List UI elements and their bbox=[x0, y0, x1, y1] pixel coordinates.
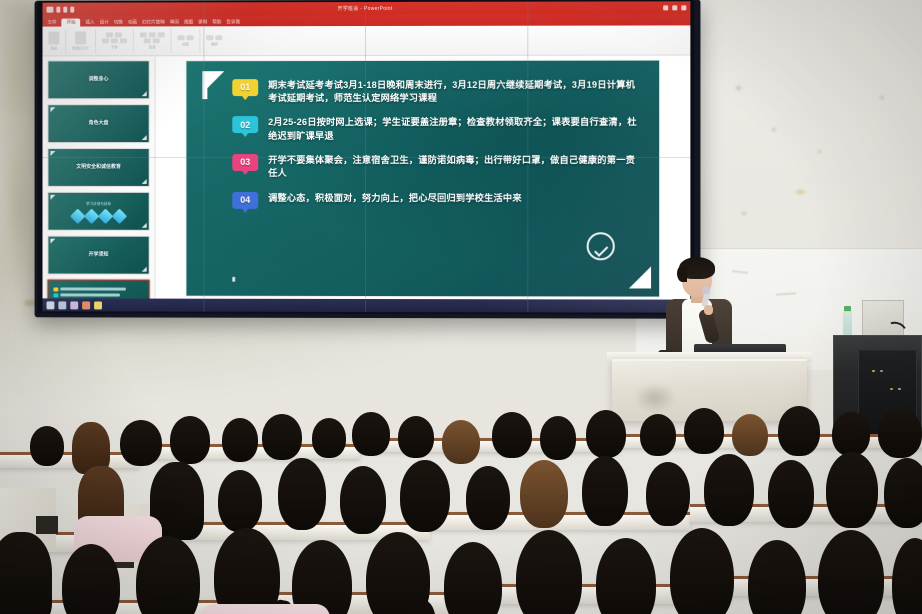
slide-bullet-item: 02 2月25-26日按时网上选课；学生证要盖注册章；检查教材领取齐全；课表要自… bbox=[232, 116, 639, 143]
student-head bbox=[596, 538, 656, 614]
thumbnail-title: 角色大盘 bbox=[85, 120, 113, 127]
ribbon-group-paragraph[interactable]: 段落 bbox=[140, 32, 165, 49]
ribbon-tab-tellme[interactable]: 告诉我 bbox=[226, 19, 240, 27]
slide-thumbnail-3[interactable]: 文明安全和诚信教育 bbox=[47, 148, 149, 187]
slide-marker bbox=[232, 276, 235, 281]
divider bbox=[95, 29, 96, 53]
bold-icon[interactable] bbox=[102, 38, 109, 43]
student-head bbox=[312, 418, 346, 458]
flag-decoration-icon bbox=[202, 85, 207, 99]
thumbnail-title: 文明安全和诚信教育 bbox=[72, 164, 125, 171]
bullet-badge-04: 04 bbox=[232, 192, 258, 209]
divider bbox=[199, 29, 200, 53]
student-head bbox=[442, 420, 480, 464]
corner-decoration-icon bbox=[142, 179, 147, 184]
ribbon-group-label: 编辑 bbox=[211, 41, 218, 46]
photo-scene: 开学班会 - PowerPoint 文件 开始 插入 设计 切换 动画 幻灯片放… bbox=[0, 0, 922, 614]
align-icon[interactable] bbox=[158, 32, 165, 37]
student-head bbox=[136, 536, 200, 614]
student-head bbox=[492, 412, 532, 458]
divider bbox=[133, 29, 134, 53]
student-head bbox=[586, 410, 626, 458]
ribbon-group-label: 段落 bbox=[149, 44, 156, 49]
student-head bbox=[646, 462, 690, 526]
close-button[interactable] bbox=[681, 5, 686, 10]
bullet-badge-01: 01 bbox=[232, 79, 258, 96]
ribbon-group-editing[interactable]: 编辑 bbox=[206, 35, 222, 46]
font-name-box[interactable] bbox=[106, 32, 113, 37]
ribbon-tab-file[interactable]: 文件 bbox=[47, 19, 56, 26]
italic-icon[interactable] bbox=[111, 38, 118, 43]
ribbon-tab-animations[interactable]: 动画 bbox=[128, 19, 137, 26]
student-head bbox=[884, 458, 922, 528]
bullet-text: 2月25-26日按时网上选课；学生证要盖注册章；检查教材领取齐全；课表要自行查清… bbox=[268, 116, 639, 143]
badge-number: 03 bbox=[240, 157, 250, 167]
desk-cutout bbox=[36, 516, 58, 534]
corner-decoration-icon bbox=[629, 266, 651, 288]
thumbnail-title: 调整身心 bbox=[85, 76, 113, 83]
slide-thumbnail-1[interactable]: 调整身心 bbox=[47, 60, 149, 99]
ribbon-group-label: 绘图 bbox=[182, 41, 189, 46]
student-head bbox=[352, 412, 390, 456]
line-spacing-icon[interactable] bbox=[153, 38, 160, 43]
diamond-chart-icon bbox=[72, 210, 125, 221]
student-head bbox=[892, 538, 922, 614]
wall-speck bbox=[880, 96, 884, 99]
student-head bbox=[0, 532, 52, 614]
corner-decoration-icon bbox=[50, 195, 55, 200]
student-head bbox=[466, 466, 510, 530]
student-head bbox=[540, 416, 576, 460]
microphone-head bbox=[702, 286, 710, 294]
student-head bbox=[878, 408, 922, 458]
select-icon[interactable] bbox=[215, 35, 222, 40]
student-head bbox=[444, 542, 502, 614]
water-bottle bbox=[843, 311, 852, 337]
student-head bbox=[832, 412, 870, 456]
divider bbox=[65, 29, 66, 53]
student-head bbox=[262, 414, 302, 460]
student-head bbox=[398, 416, 434, 458]
ribbon-tab-home[interactable]: 开始 bbox=[62, 18, 81, 27]
desk-row bbox=[0, 452, 140, 468]
slide-bullet-list: 01 期末考试延考考试3月1-18日晚和周末进行，3月12日周六继续延期考试，3… bbox=[232, 78, 639, 220]
student-head bbox=[748, 540, 806, 614]
slide-thumbnail-pane[interactable]: 调整身心 角色大盘 文明安全和诚信教育 bbox=[43, 57, 156, 298]
slide-bullet-item: 03 开学不要集体聚会，注意宿舍卫生，谨防诺如病毒；出行带好口罩，做自己健康的第… bbox=[232, 154, 639, 181]
ribbon-tab-transitions[interactable]: 切换 bbox=[114, 19, 123, 26]
divider bbox=[171, 29, 172, 53]
ribbon-group-font[interactable]: 字体 bbox=[102, 32, 127, 49]
new-slide-icon[interactable] bbox=[75, 31, 86, 44]
ribbon-tab-design[interactable]: 设计 bbox=[100, 19, 109, 26]
slide-thumbnail-5[interactable]: 开学须知 bbox=[47, 236, 149, 275]
check-circle-icon bbox=[587, 232, 615, 260]
corner-decoration-icon bbox=[142, 91, 147, 96]
slide-bullet-item: 04 调整心态，积极面对，努力向上，把心尽回归到学校生活中来 bbox=[232, 192, 639, 209]
thumbnail-title: 学习计划与目标 bbox=[86, 201, 111, 206]
font-size-box[interactable] bbox=[115, 32, 122, 37]
thumbnail-title: 开学须知 bbox=[85, 252, 113, 259]
os-taskbar[interactable] bbox=[43, 298, 691, 312]
student-head bbox=[826, 452, 878, 528]
ribbon-group-new-slide[interactable]: 新建幻灯片 bbox=[72, 31, 89, 50]
presenter-hair bbox=[679, 257, 715, 279]
student-head bbox=[30, 426, 64, 466]
badge-number: 01 bbox=[240, 82, 250, 92]
student-head bbox=[768, 460, 814, 528]
slide-thumbnail-2[interactable]: 角色大盘 bbox=[47, 104, 149, 143]
student-head bbox=[516, 530, 582, 614]
bullet-badge-02: 02 bbox=[232, 116, 258, 133]
bullet-text: 期末考试延考考试3月1-18日晚和周末进行，3月12日周六继续延期考试，3月19… bbox=[268, 78, 639, 105]
badge-number: 02 bbox=[240, 120, 250, 130]
student-head bbox=[640, 414, 676, 456]
wall-speck bbox=[736, 86, 741, 90]
wall-speck bbox=[742, 212, 746, 215]
current-slide[interactable]: 01 期末考试延考考试3月1-18日晚和周末进行，3月12日周六继续延期考试，3… bbox=[186, 60, 659, 296]
student-head bbox=[582, 456, 628, 526]
slide-bullet-item: 01 期末考试延考考试3月1-18日晚和周末进行，3月12日周六继续延期考试，3… bbox=[232, 78, 639, 105]
ribbon-tab-view[interactable]: 视图 bbox=[184, 19, 193, 26]
corner-decoration-icon bbox=[142, 135, 147, 140]
restore-button[interactable] bbox=[672, 5, 677, 10]
ribbon-group-label: 粘贴 bbox=[51, 45, 58, 50]
slide-thumbnail-6[interactable] bbox=[47, 279, 149, 298]
numbering-icon[interactable] bbox=[149, 32, 156, 37]
student-head bbox=[214, 528, 280, 614]
minimize-button[interactable] bbox=[663, 5, 668, 10]
student-head bbox=[120, 420, 162, 466]
indent-icon[interactable] bbox=[144, 38, 151, 43]
student-head bbox=[340, 466, 386, 534]
student-head bbox=[684, 408, 724, 454]
ribbon-group-label: 新建幻灯片 bbox=[72, 45, 89, 50]
ribbon-tab-review[interactable]: 审阅 bbox=[170, 19, 179, 26]
browser-icon[interactable] bbox=[82, 301, 90, 309]
audience-seating bbox=[0, 404, 922, 614]
student-head bbox=[704, 454, 754, 526]
underline-icon[interactable] bbox=[120, 38, 127, 43]
corner-decoration-icon bbox=[142, 223, 147, 228]
student-head bbox=[170, 416, 210, 464]
ribbon-group-paste[interactable]: 粘贴 bbox=[48, 32, 59, 51]
corner-decoration-icon bbox=[50, 239, 55, 244]
bullet-text: 开学不要集体聚会，注意宿舍卫生，谨防诺如病毒；出行带好口罩，做自己健康的第一责任… bbox=[268, 154, 639, 181]
student-head bbox=[732, 414, 768, 456]
shapes-icon[interactable] bbox=[177, 35, 184, 40]
wall-speck bbox=[772, 128, 776, 131]
student-head bbox=[222, 418, 258, 462]
corner-decoration-icon bbox=[50, 107, 55, 112]
wall-display: 开学班会 - PowerPoint 文件 开始 插入 设计 切换 动画 幻灯片放… bbox=[35, 0, 701, 319]
student-head bbox=[670, 528, 734, 614]
find-icon[interactable] bbox=[206, 35, 213, 40]
ribbon-group-label: 字体 bbox=[111, 44, 118, 49]
wall-speck bbox=[796, 190, 805, 194]
window-title: 开学班会 - PowerPoint bbox=[43, 4, 691, 12]
corner-decoration-icon bbox=[142, 267, 147, 272]
thumbnail-bullet-preview bbox=[48, 284, 148, 299]
student-head bbox=[520, 460, 568, 528]
bullet-badge-03: 03 bbox=[232, 154, 258, 171]
arrange-icon[interactable] bbox=[186, 35, 193, 40]
student-head bbox=[218, 470, 262, 532]
powerpoint-icon[interactable] bbox=[94, 301, 102, 309]
student-head bbox=[278, 458, 326, 530]
slide-thumbnail-4[interactable]: 学习计划与目标 bbox=[47, 192, 149, 231]
wall-speck bbox=[818, 150, 821, 153]
ribbon-group-drawing[interactable]: 绘图 bbox=[177, 35, 193, 46]
bullet-text: 调整心态，积极面对，努力向上，把心尽回归到学校生活中来 bbox=[268, 192, 639, 206]
powerpoint-window[interactable]: 开学班会 - PowerPoint 文件 开始 插入 设计 切换 动画 幻灯片放… bbox=[43, 1, 691, 312]
display-bezel: 开学班会 - PowerPoint 文件 开始 插入 设计 切换 动画 幻灯片放… bbox=[38, 0, 695, 315]
start-icon[interactable] bbox=[46, 301, 54, 309]
presenter-hand bbox=[704, 305, 713, 315]
paste-icon[interactable] bbox=[48, 32, 59, 45]
ribbon-tab-insert[interactable]: 插入 bbox=[86, 19, 95, 26]
corner-decoration-icon bbox=[50, 151, 55, 156]
student-head bbox=[818, 530, 884, 614]
slide-editing-area[interactable]: 01 期末考试延考考试3月1-18日晚和周末进行，3月12日周六继续延期考试，3… bbox=[156, 57, 691, 300]
bullets-icon[interactable] bbox=[140, 32, 147, 37]
ribbon-tab-slideshow[interactable]: 幻灯片放映 bbox=[142, 19, 165, 27]
task-view-icon[interactable] bbox=[70, 301, 78, 309]
window-titlebar: 开学班会 - PowerPoint bbox=[43, 1, 691, 15]
ribbon-tab-record[interactable]: 录制 bbox=[198, 19, 207, 27]
student-head bbox=[400, 460, 450, 532]
search-icon[interactable] bbox=[58, 301, 66, 309]
ribbon-body: 粘贴 新建幻灯片 字体 bbox=[43, 25, 691, 56]
badge-number: 04 bbox=[240, 195, 250, 205]
student-head bbox=[778, 406, 820, 456]
student-clothing bbox=[200, 604, 330, 614]
student-head bbox=[292, 540, 352, 614]
ribbon-tab-help[interactable]: 帮助 bbox=[212, 19, 221, 27]
